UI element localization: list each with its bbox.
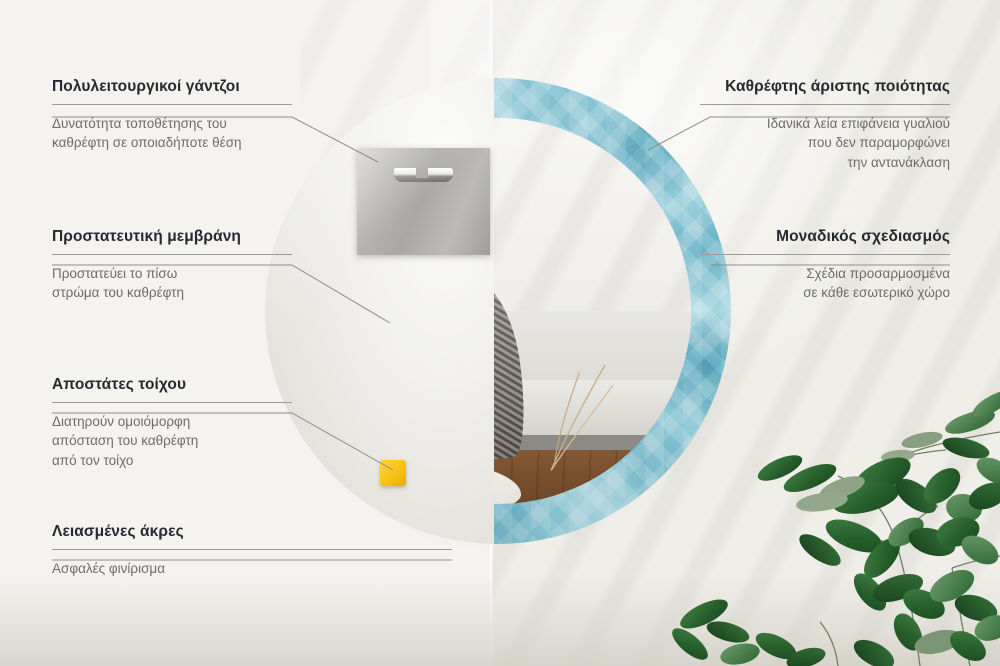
mirror-hook-plate [357, 148, 490, 255]
reflected-dried-stems [537, 357, 622, 473]
callout-membrane-title: Προστατευτική μεμβράνη [52, 228, 292, 247]
yellow-wall-spacer [380, 460, 406, 486]
callout-edges-desc: Ασφαλές φινίρισμα [52, 559, 452, 579]
foliage-branches [670, 336, 1000, 666]
callout-design-desc: Σχέδια προσαρμοσμένα σε κάθε εσωτερικό χ… [700, 264, 950, 303]
callout-quality-desc: Ιδανικά λεία επιφάνεια γυαλιού που δεν π… [700, 114, 950, 173]
foliage-leaves [670, 386, 1000, 666]
infographic-stage: Πολυλειτουργικοί γάντζοι Δυνατότητα τοπο… [0, 0, 1000, 666]
mirror-glass-reflection [494, 118, 691, 504]
callout-spacers-title: Αποστάτες τοίχου [52, 376, 292, 395]
callout-edges-title: Λειασμένες άκρες [52, 523, 452, 542]
round-mirror-product [263, 76, 739, 554]
callout-hooks: Πολυλειτουργικοί γάντζοι Δυνατότητα τοπο… [52, 78, 292, 153]
callout-membrane-rule [52, 254, 292, 255]
callout-design: Μοναδικός σχεδιασμός Σχέδια προσαρμοσμέν… [700, 228, 950, 303]
mirror-disc [265, 78, 731, 544]
callout-edges-rule [52, 549, 452, 550]
callout-design-rule [700, 254, 950, 255]
callout-spacers-rule [52, 402, 292, 403]
callout-hooks-desc: Δυνατότητα τοποθέτησης του καθρέφτη σε ο… [52, 114, 292, 153]
callout-quality: Καθρέφτης άριστης ποιότητας Ιδανικά λεία… [700, 78, 950, 172]
callout-membrane-desc: Προστατεύει το πίσω στρώμα του καθρέφτη [52, 264, 292, 303]
callout-edges: Λειασμένες άκρες Ασφαλές φινίρισμα [52, 523, 452, 578]
callout-quality-title: Καθρέφτης άριστης ποιότητας [700, 78, 950, 97]
callout-hooks-title: Πολυλειτουργικοί γάντζοι [52, 78, 292, 97]
callout-membrane: Προστατευτική μεμβράνη Προστατεύει το πί… [52, 228, 292, 303]
callout-quality-rule [700, 104, 950, 105]
hook-plate-sheen [357, 148, 490, 255]
callout-hooks-rule [52, 104, 292, 105]
callout-design-title: Μοναδικός σχεδιασμός [700, 228, 950, 247]
callout-spacers-desc: Διατηρούν ομοιόμορφη απόσταση του καθρέφ… [52, 412, 292, 471]
callout-spacers: Αποστάτες τοίχου Διατηρούν ομοιόμορφη απ… [52, 376, 292, 470]
